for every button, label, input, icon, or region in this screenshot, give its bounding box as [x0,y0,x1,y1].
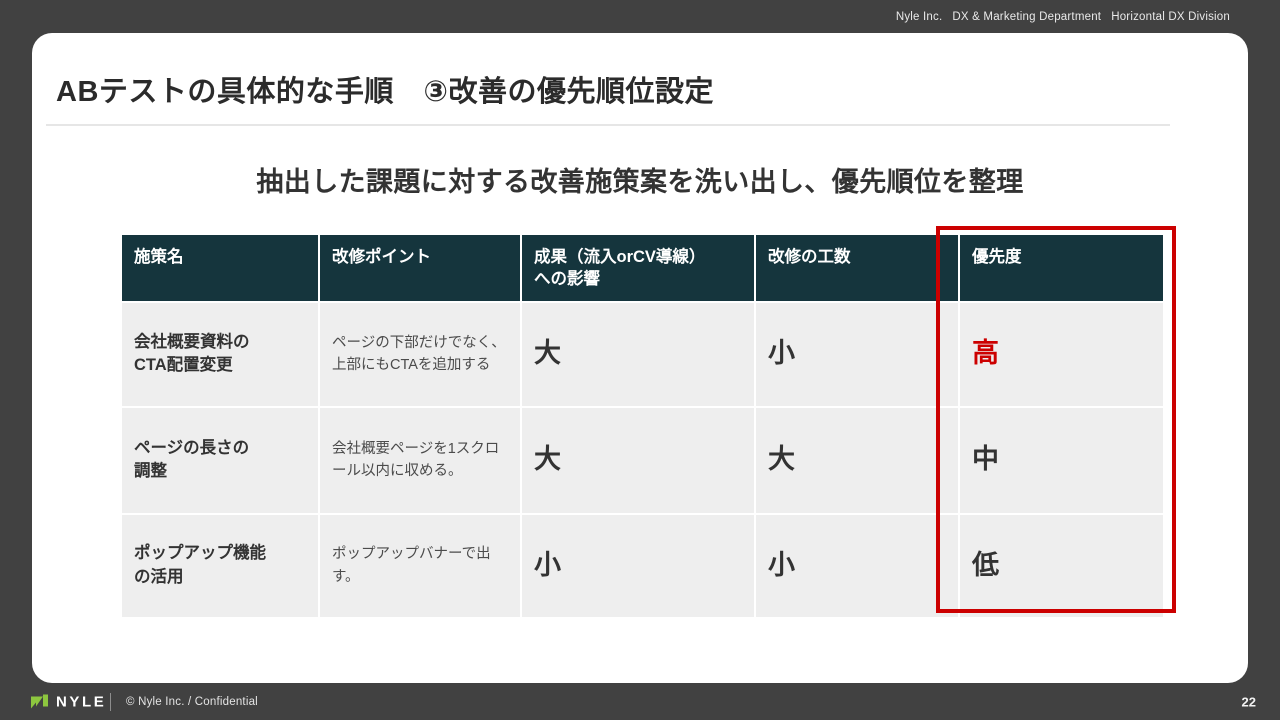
measure-name-line2: CTA配置変更 [134,356,233,374]
cell-impact: 大 [522,303,754,406]
col-header-impact: 成果（流入orCV導線） への影響 [522,235,754,301]
table-header-row: 施策名 改修ポイント 成果（流入orCV導線） への影響 改修の工数 優先度 [122,235,1163,301]
priority-matrix-table-wrap: 施策名 改修ポイント 成果（流入orCV導線） への影響 改修の工数 優先度 会… [120,233,1157,619]
fix-point-text: ページの下部だけでなく、上部にもCTAを追加する [332,332,508,377]
cell-measure-name: ページの長さの 調整 [122,408,318,513]
nyle-mark-icon [30,694,50,710]
table-row: 会社概要資料の CTA配置変更 ページの下部だけでなく、上部にもCTAを追加する… [122,303,1163,406]
brand-company: Nyle Inc. [896,11,943,23]
cell-measure-name: ポップアップ機能 の活用 [122,515,318,617]
measure-name-line2: 調整 [134,462,167,480]
brand-department: DX & Marketing Department [952,11,1101,23]
nyle-logo: NYLE [30,693,106,710]
cell-priority: 中 [960,408,1163,513]
page-title: ABテストの具体的な手順 ③改善の優先順位設定 [56,68,714,110]
slide-canvas: Nyle Inc. DX & Marketing Department Hori… [0,0,1280,720]
measure-name-line1: 会社概要資料の [134,333,250,351]
priority-grade: 中 [972,445,1151,475]
page-number: 22 [1242,694,1256,709]
measure-name-line1: ポップアップ機能 [134,544,266,562]
cell-priority: 高 [960,303,1163,406]
cell-impact: 大 [522,408,754,513]
impact-grade: 小 [534,551,742,581]
col-header-effort: 改修の工数 [756,235,958,301]
table-row: ポップアップ機能 の活用 ポップアップバナーで出す。 小 小 低 [122,515,1163,617]
title-divider [46,124,1170,126]
footer-divider [110,693,111,711]
cell-measure-name: 会社概要資料の CTA配置変更 [122,303,318,406]
footer-bar: NYLE © Nyle Inc. / Confidential 22 [0,683,1280,720]
table-row: ページの長さの 調整 会社概要ページを1スクロール以内に収める。 大 大 [122,408,1163,513]
slide-lead-text: 抽出した課題に対する改善施策案を洗い出し、優先順位を整理 [0,160,1280,199]
fix-point-text: 会社概要ページを1スクロール以内に収める。 [332,438,508,483]
nyle-wordmark: NYLE [56,693,106,710]
priority-grade: 高 [972,339,1151,369]
cell-priority: 低 [960,515,1163,617]
priority-grade: 低 [972,551,1151,581]
cell-fix-point: 会社概要ページを1スクロール以内に収める。 [320,408,520,513]
effort-grade: 大 [768,445,946,475]
fix-point-text: ポップアップバナーで出す。 [332,543,508,588]
cell-effort: 大 [756,408,958,513]
col-header-impact-line1: 成果（流入orCV導線） [534,248,705,266]
cell-effort: 小 [756,303,958,406]
col-header-impact-line2: への影響 [534,270,600,288]
measure-name-line1: ページの長さの [134,439,249,457]
effort-grade: 小 [768,339,946,369]
impact-grade: 大 [534,339,742,369]
col-header-priority: 優先度 [960,235,1163,301]
brand-strip: Nyle Inc. DX & Marketing Department Hori… [896,11,1230,23]
cell-fix-point: ポップアップバナーで出す。 [320,515,520,617]
cell-fix-point: ページの下部だけでなく、上部にもCTAを追加する [320,303,520,406]
footer-copyright: © Nyle Inc. / Confidential [126,696,258,708]
cell-impact: 小 [522,515,754,617]
col-header-measure-name: 施策名 [122,235,318,301]
impact-grade: 大 [534,445,742,475]
effort-grade: 小 [768,551,946,581]
measure-name-line2: の活用 [134,568,184,586]
col-header-fix-point: 改修ポイント [320,235,520,301]
priority-matrix-table: 施策名 改修ポイント 成果（流入orCV導線） への影響 改修の工数 優先度 会… [120,233,1165,619]
brand-division: Horizontal DX Division [1111,11,1230,23]
cell-effort: 小 [756,515,958,617]
